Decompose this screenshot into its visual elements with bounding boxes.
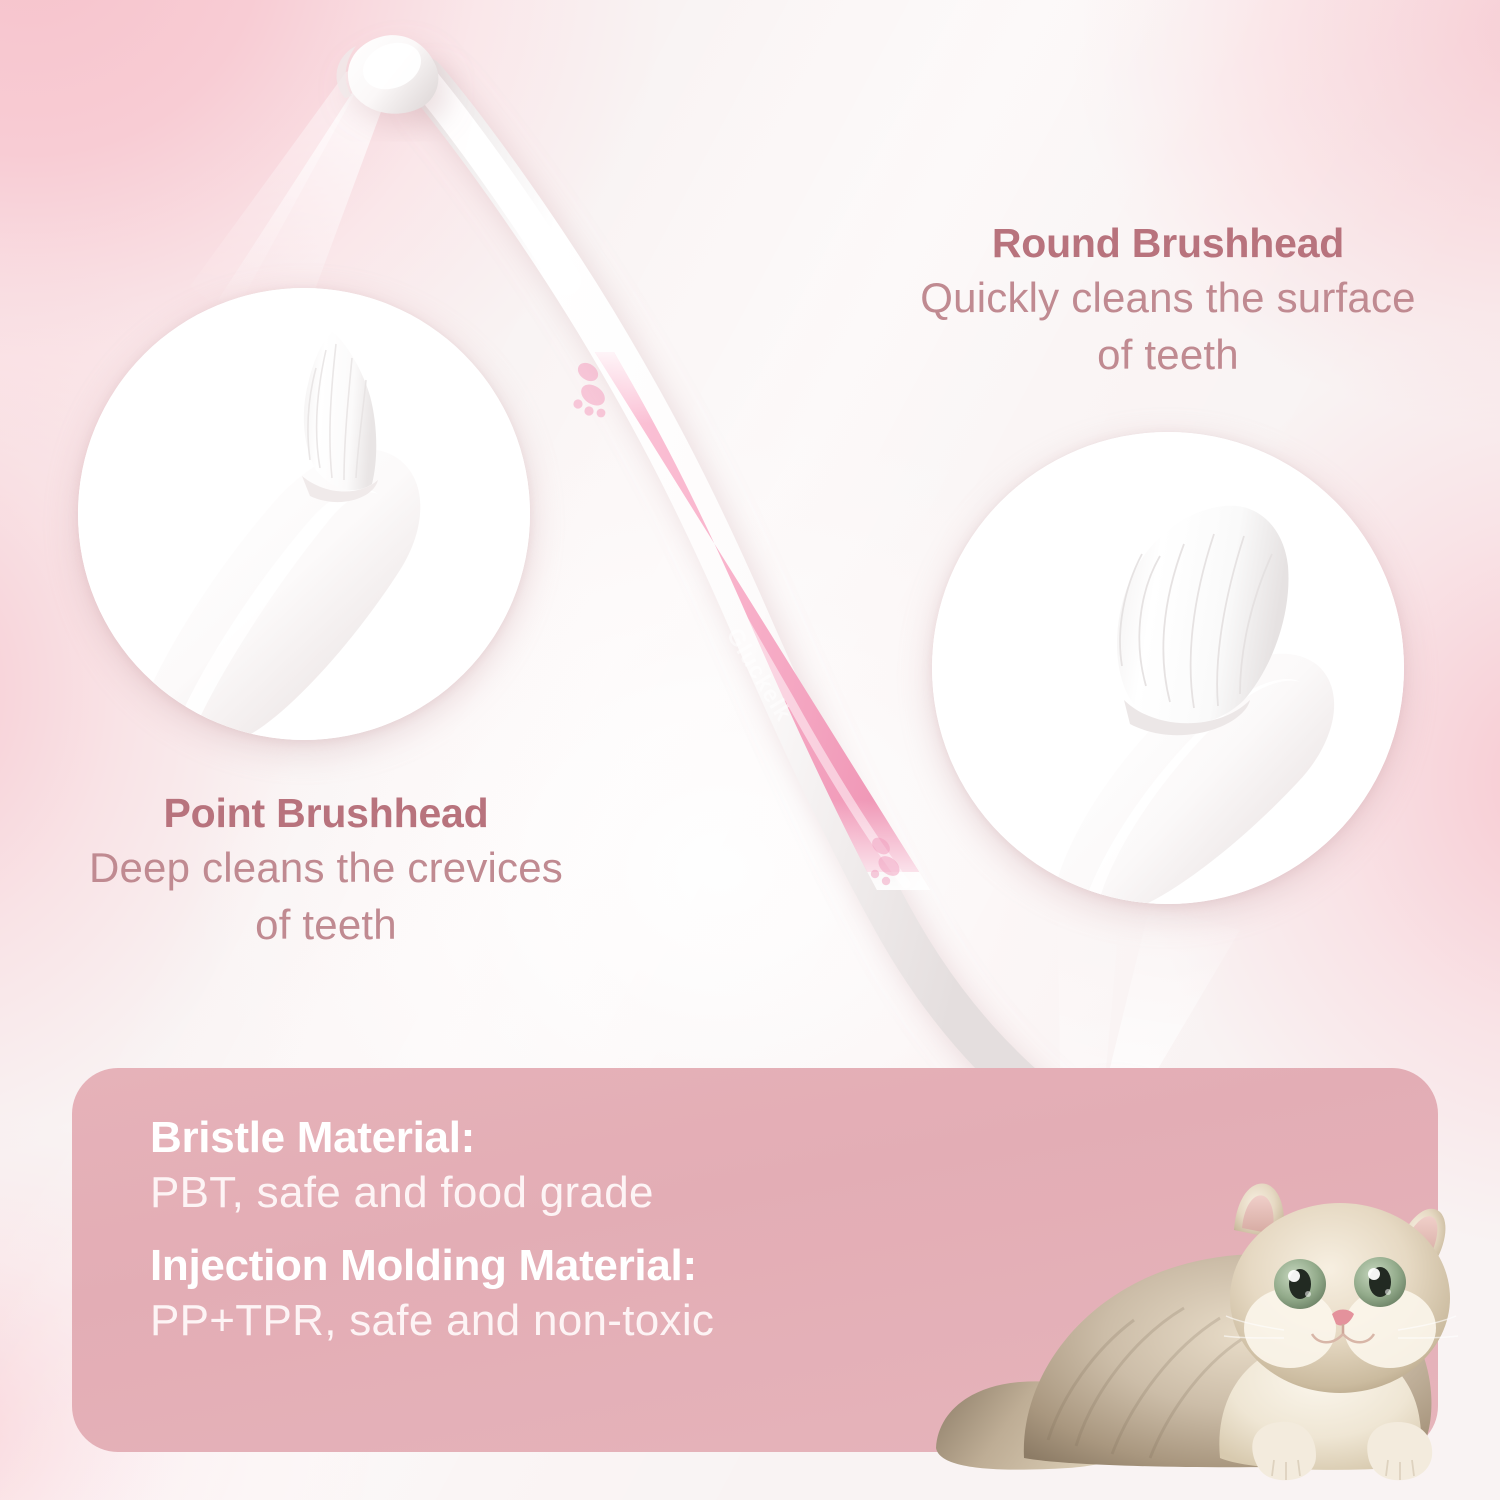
callout-round-brushhead: Round Brushhead Quickly cleans the surfa… [862, 222, 1474, 379]
spec-row-bristle: Bristle Material: PBT, safe and food gra… [150, 1114, 1030, 1218]
callout-point-title: Point Brushhead [30, 792, 622, 835]
callout-round-title: Round Brushhead [862, 222, 1474, 265]
spec-injection-value: PP+TPR, safe and non-toxic [150, 1296, 1030, 1345]
callout-point-brushhead: Point Brushhead Deep cleans the crevices… [30, 792, 622, 949]
callout-point-desc-line2: of teeth [30, 901, 622, 949]
round-head-inset [932, 432, 1404, 904]
callout-point-desc-line1: Deep cleans the crevices [30, 844, 622, 892]
spec-panel-text: Bristle Material: PBT, safe and food gra… [150, 1114, 1030, 1345]
infographic-canvas: Gluckelk [0, 0, 1500, 1500]
spec-row-injection: Injection Molding Material: PP+TPR, safe… [150, 1242, 1030, 1346]
cat-photo [928, 1158, 1488, 1500]
spec-injection-heading: Injection Molding Material: [150, 1242, 1030, 1290]
spec-bristle-value: PBT, safe and food grade [150, 1168, 1030, 1217]
point-head-inset [78, 288, 530, 740]
callout-round-desc-line2: of teeth [862, 331, 1474, 379]
spec-bristle-heading: Bristle Material: [150, 1114, 1030, 1162]
callout-round-desc-line1: Quickly cleans the surface [862, 274, 1474, 322]
point-brushhead-top [337, 34, 439, 113]
